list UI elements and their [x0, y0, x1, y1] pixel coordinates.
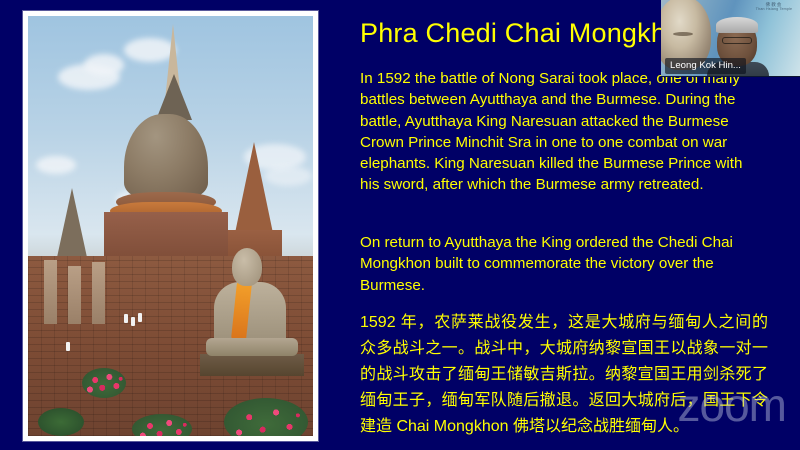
bougainvillea-flowers	[82, 368, 126, 398]
buddha-eye	[673, 32, 693, 36]
visitor-figure	[66, 342, 70, 351]
stone-pillar	[44, 260, 57, 324]
visitor-figure	[131, 317, 135, 326]
visitor-figure	[124, 314, 128, 323]
side-stupa-right	[234, 142, 274, 238]
presentation-slide: Phra Chedi Chai Mongkhon In 1592 the bat…	[0, 0, 800, 450]
organisation-logo: 佛教会 Than Hsiang Temple	[752, 2, 796, 18]
participant-hair	[716, 17, 758, 33]
participant-name-badge: Leong Kok Hin...	[665, 58, 746, 74]
chedi-photograph	[28, 16, 313, 436]
body-paragraph-english-1: In 1592 the battle of Nong Sarai took pl…	[360, 68, 760, 196]
zoom-watermark: zoom	[678, 382, 786, 428]
side-stupa-left	[56, 188, 88, 262]
slide-photo-frame	[23, 11, 318, 441]
stone-pillar	[68, 266, 81, 324]
cloud-shape	[84, 54, 124, 76]
bougainvillea-flowers	[132, 414, 192, 436]
logo-english-text: Than Hsiang Temple	[756, 7, 793, 11]
shrub	[38, 408, 84, 436]
cloud-shape	[36, 156, 76, 174]
buddha-head	[232, 248, 262, 286]
stone-pillar	[92, 262, 105, 324]
body-paragraph-english-2: On return to Ayutthaya the King ordered …	[360, 232, 760, 296]
buddha-lap	[206, 338, 298, 356]
chedi-bell-dome	[124, 114, 208, 200]
visitor-figure	[138, 313, 142, 322]
glasses-icon	[722, 37, 752, 44]
participant-video-tile[interactable]: 佛教会 Than Hsiang Temple Leong Kok Hin...	[661, 0, 800, 77]
buddha-plinth	[200, 354, 304, 376]
